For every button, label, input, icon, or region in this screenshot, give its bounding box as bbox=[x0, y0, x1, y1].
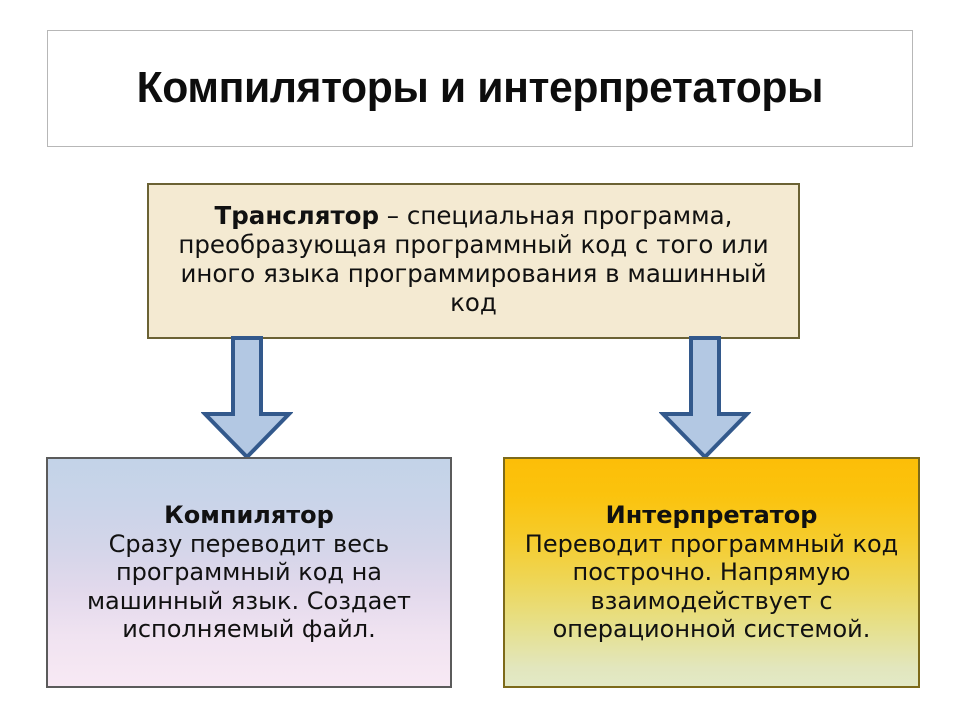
arrow-down-icon-to-interpreter bbox=[659, 336, 751, 460]
compiler-text: Компилятор Сразу переводит весь программ… bbox=[54, 501, 444, 644]
compiler-box: Компилятор Сразу переводит весь программ… bbox=[46, 457, 452, 688]
interpreter-text: Интерпретатор Переводит программный код … bbox=[511, 501, 912, 644]
page-title: Компиляторы и интерпретаторы bbox=[137, 65, 824, 111]
definition-dash: – bbox=[379, 201, 407, 230]
compiler-body: Сразу переводит весь программный код на … bbox=[87, 530, 411, 644]
interpreter-heading: Интерпретатор bbox=[606, 501, 818, 529]
definition-box: Транслятор – специальная программа, прео… bbox=[147, 183, 800, 339]
slide-canvas: Компиляторы и интерпретаторы Транслятор … bbox=[0, 0, 960, 720]
arrow-down-icon-to-compiler bbox=[201, 336, 293, 460]
interpreter-box: Интерпретатор Переводит программный код … bbox=[503, 457, 920, 688]
title-frame: Компиляторы и интерпретаторы bbox=[47, 30, 913, 147]
interpreter-body: Переводит программный код построчно. Нап… bbox=[525, 530, 898, 644]
compiler-heading: Компилятор bbox=[164, 501, 334, 529]
definition-text: Транслятор – специальная программа, прео… bbox=[161, 201, 786, 318]
definition-term: Транслятор bbox=[215, 201, 379, 230]
